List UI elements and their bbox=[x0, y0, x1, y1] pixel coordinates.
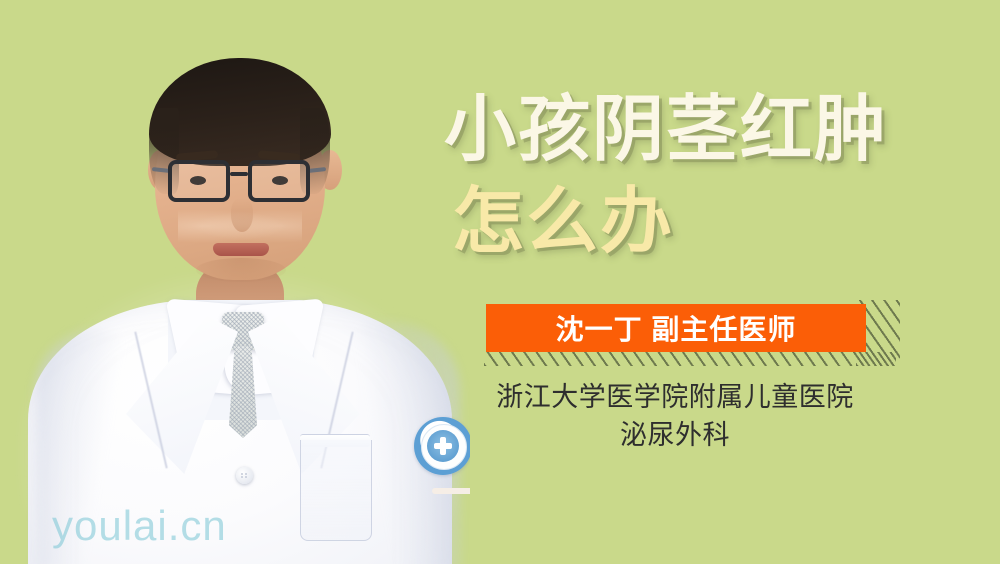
mouth bbox=[213, 243, 269, 256]
title-line-1: 小孩阴茎红肿 bbox=[432, 84, 972, 176]
teeth bbox=[432, 488, 470, 494]
eyeglasses-lens-left bbox=[168, 160, 230, 202]
chin-shadow bbox=[196, 258, 286, 282]
coat-button bbox=[236, 467, 253, 484]
doctor-name-title: 沈一丁 副主任医师 bbox=[556, 308, 797, 348]
hatch-decoration-bottom bbox=[484, 352, 896, 366]
title-block: 小孩阴茎红肿 怎么办 bbox=[432, 84, 972, 268]
hospital-name: 浙江大学医学院附属儿童医院 bbox=[440, 378, 910, 416]
eyeglasses-bridge bbox=[230, 172, 248, 176]
title-line-2: 怎么办 bbox=[432, 176, 972, 268]
affiliation-block: 浙江大学医学院附属儿童医院 泌尿外科 bbox=[440, 378, 910, 454]
video-thumbnail: 小孩阴茎红肿 怎么办 沈一丁 副主任医师 浙江大学医学院附属儿童医院 泌尿外科 … bbox=[0, 0, 1000, 564]
site-watermark: youlai.cn bbox=[52, 502, 227, 550]
doctor-portrait bbox=[0, 0, 470, 564]
coat-pocket bbox=[300, 440, 372, 541]
doctor-name-banner: 沈一丁 副主任医师 bbox=[486, 304, 866, 352]
eyeglasses-lens-right bbox=[248, 160, 310, 202]
department-name: 泌尿外科 bbox=[440, 416, 910, 454]
nose bbox=[231, 198, 253, 232]
